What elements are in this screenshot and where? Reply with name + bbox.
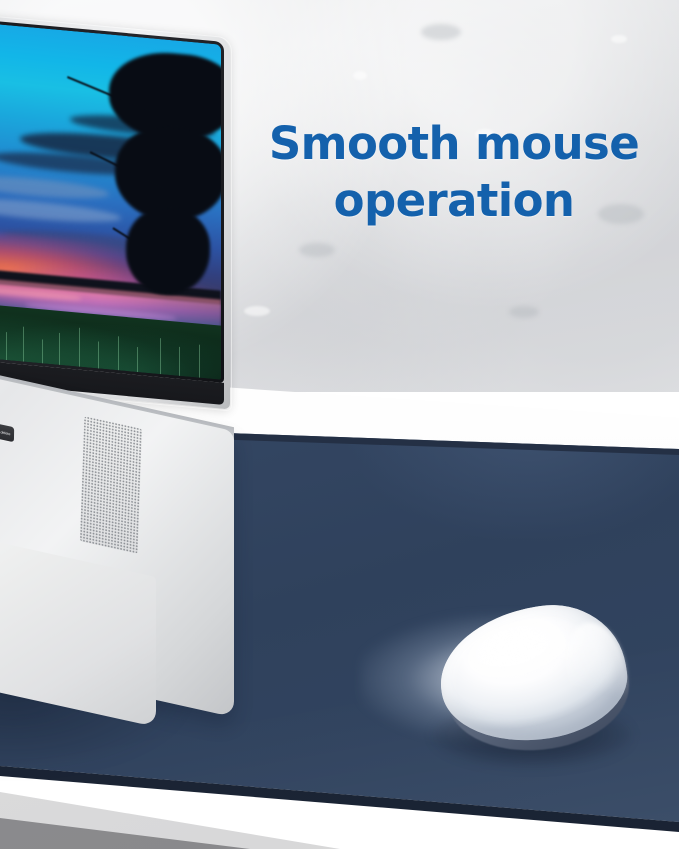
key-delete: delete — [0, 418, 14, 442]
screen-bezel — [0, 16, 224, 383]
laptop: 9 0 - + delete O P { } | L : " return < … — [0, 24, 264, 724]
laptop-lid — [0, 11, 230, 410]
wireless-mouse — [418, 596, 658, 786]
headline: Smooth mouse operation — [236, 116, 672, 229]
laptop-screen — [0, 19, 221, 379]
laptop-speaker-grille — [80, 416, 142, 554]
product-photo-scene: 9 0 - + delete O P { } | L : " return < … — [0, 0, 679, 849]
headline-line-2: operation — [236, 173, 672, 230]
headline-line-1: Smooth mouse — [236, 116, 672, 173]
